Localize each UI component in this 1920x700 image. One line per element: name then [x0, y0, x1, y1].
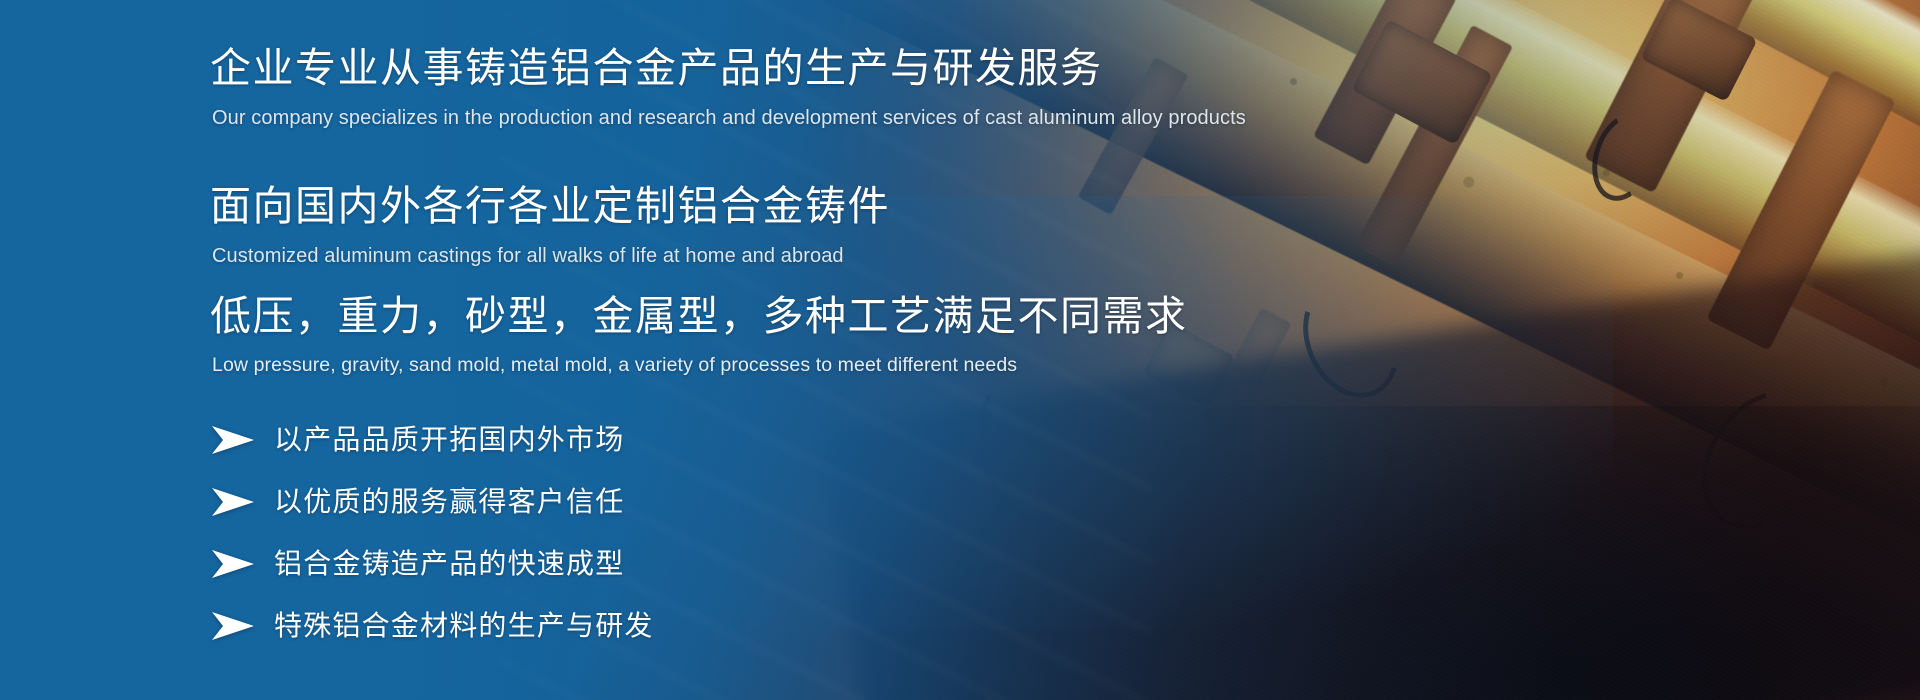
arrow-right-icon [210, 611, 256, 641]
list-item: 特殊铝合金材料的生产与研发 [210, 606, 1390, 646]
headline-cn-1: 企业专业从事铸造铝合金产品的生产与研发服务 [210, 44, 1390, 93]
list-item-label: 以优质的服务赢得客户信任 [274, 488, 624, 516]
hero-banner: 企业专业从事铸造铝合金产品的生产与研发服务 Our company specia… [0, 0, 1920, 700]
headline-cn-2: 面向国内外各行各业定制铝合金铸件 [210, 182, 1390, 231]
list-item: 以优质的服务赢得客户信任 [210, 482, 1390, 522]
message-block-3: 低压，重力，砂型，金属型，多种工艺满足不同需求 Low pressure, gr… [210, 292, 1390, 378]
message-block-2: 面向国内外各行各业定制铝合金铸件 Customized aluminum cas… [210, 182, 1390, 270]
message-block-1: 企业专业从事铸造铝合金产品的生产与研发服务 Our company specia… [210, 44, 1390, 132]
list-item-label: 以产品品质开拓国内外市场 [274, 426, 624, 454]
banner-content: 企业专业从事铸造铝合金产品的生产与研发服务 Our company specia… [210, 44, 1390, 668]
subtitle-en-1: Our company specializes in the productio… [212, 105, 1390, 132]
feature-list: 以产品品质开拓国内外市场 以优质的服务赢得客户信任 铝合金铸造产品的快速成型 特… [210, 420, 1390, 646]
headline-cn-3: 低压，重力，砂型，金属型，多种工艺满足不同需求 [210, 292, 1390, 341]
list-item-label: 特殊铝合金材料的生产与研发 [274, 612, 654, 640]
list-item-label: 铝合金铸造产品的快速成型 [274, 550, 624, 578]
list-item: 铝合金铸造产品的快速成型 [210, 544, 1390, 584]
subtitle-en-2: Customized aluminum castings for all wal… [212, 243, 1390, 270]
arrow-right-icon [210, 425, 256, 455]
subtitle-en-3: Low pressure, gravity, sand mold, metal … [212, 352, 1390, 378]
arrow-right-icon [210, 487, 256, 517]
arrow-right-icon [210, 549, 256, 579]
list-item: 以产品品质开拓国内外市场 [210, 420, 1390, 460]
